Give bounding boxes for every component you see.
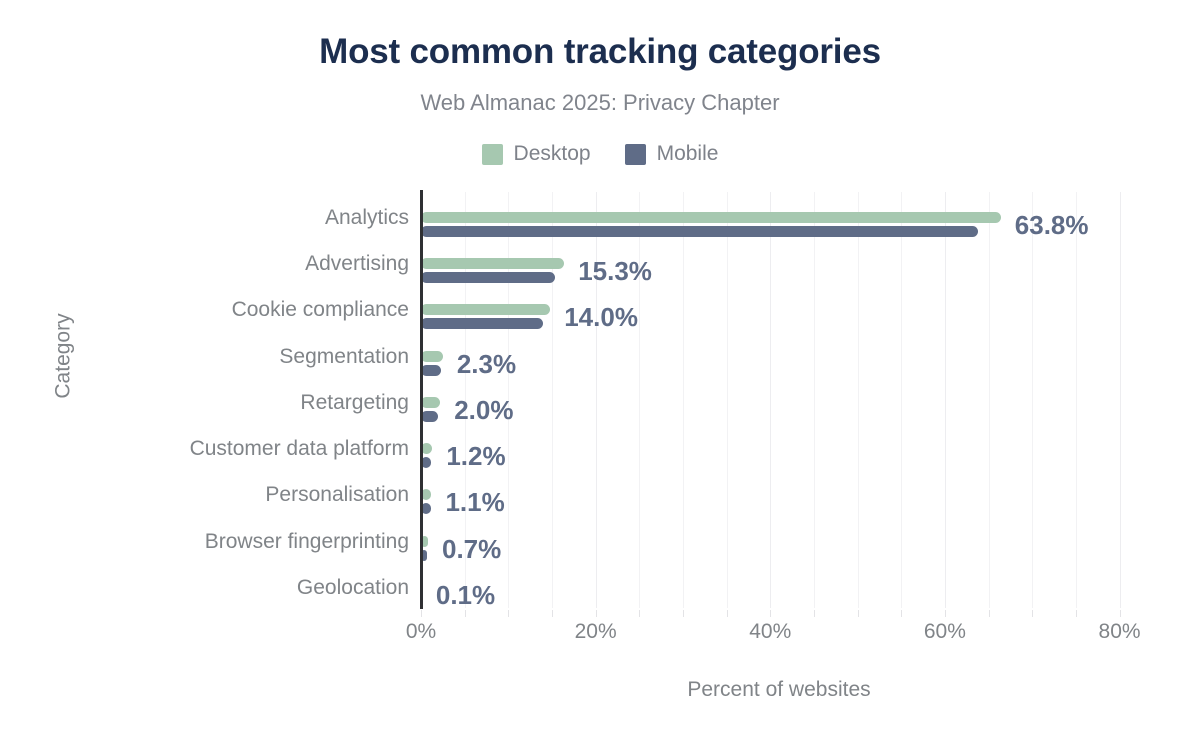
x-tick-mark [421, 610, 422, 617]
plot-area: 63.8%15.3%14.0%2.3%2.0%1.2%1.1%0.7%0.1% [421, 192, 1137, 608]
chart-subtitle: Web Almanac 2025: Privacy Chapter [0, 90, 1200, 116]
x-tick-label: 80% [1099, 620, 1141, 644]
x-tick-mark [727, 610, 728, 617]
x-tick-mark [770, 610, 771, 617]
bar-mobile[interactable] [421, 365, 441, 376]
x-tick-mark [639, 610, 640, 617]
bar-value-label: 1.2% [446, 443, 505, 469]
bar-group: 1.2% [421, 423, 1137, 468]
y-axis-title: Category [52, 313, 76, 398]
y-axis-label-analytics: Analytics [9, 205, 409, 231]
x-tick-mark [858, 610, 859, 617]
x-tick-mark [552, 610, 553, 617]
bar-group: 0.7% [421, 516, 1137, 561]
bar-group: 15.3% [421, 238, 1137, 283]
y-axis-label-customer-data-platform: Customer data platform [9, 436, 409, 462]
x-tick-mark [1076, 610, 1077, 617]
x-tick-mark [814, 610, 815, 617]
x-tick-mark [596, 610, 597, 617]
x-tick-label: 0% [406, 620, 436, 644]
legend-label: Mobile [657, 142, 719, 166]
bar-desktop[interactable] [421, 397, 440, 408]
legend-item-desktop[interactable]: Desktop [482, 142, 591, 166]
bar-desktop[interactable] [421, 304, 550, 315]
bar-desktop[interactable] [421, 258, 564, 269]
bar-value-label: 1.1% [445, 489, 504, 515]
y-axis-line [420, 190, 423, 609]
square-swatch-icon [482, 144, 503, 165]
bar-value-label: 2.0% [454, 397, 513, 423]
bar-desktop[interactable] [421, 351, 443, 362]
x-tick-mark [508, 610, 509, 617]
bar-value-label: 2.3% [457, 351, 516, 377]
bar-group: 1.1% [421, 469, 1137, 514]
x-tick-mark [901, 610, 902, 617]
bar-value-label: 0.1% [436, 582, 495, 608]
x-tick-label: 60% [924, 620, 966, 644]
y-axis-category-labels: AnalyticsAdvertisingCookie complianceSeg… [0, 192, 409, 608]
x-tick-mark [989, 610, 990, 617]
bar-mobile[interactable] [421, 272, 555, 283]
x-axis-ticks: 0%20%40%60%80% [421, 610, 1137, 650]
bar-chart: Most common tracking categories Web Alma… [0, 0, 1200, 742]
x-tick-mark [1032, 610, 1033, 617]
bar-group: 14.0% [421, 284, 1137, 329]
x-tick-label: 20% [575, 620, 617, 644]
y-axis-label-geolocation: Geolocation [9, 575, 409, 601]
x-tick-mark [683, 610, 684, 617]
bar-value-label: 14.0% [564, 304, 638, 330]
bar-mobile[interactable] [421, 411, 438, 422]
bar-group: 0.1% [421, 562, 1137, 607]
x-tick-label: 40% [749, 620, 791, 644]
bars-layer: 63.8%15.3%14.0%2.3%2.0%1.2%1.1%0.7%0.1% [421, 192, 1137, 608]
bar-group: 2.3% [421, 331, 1137, 376]
chart-title: Most common tracking categories [0, 32, 1200, 72]
x-tick-mark [1120, 610, 1121, 617]
bar-group: 63.8% [421, 192, 1137, 237]
bar-value-label: 15.3% [578, 258, 652, 284]
bar-mobile[interactable] [421, 226, 978, 237]
bar-group: 2.0% [421, 377, 1137, 422]
x-tick-mark [945, 610, 946, 617]
x-tick-mark [465, 610, 466, 617]
x-axis-title: Percent of websites [421, 678, 1137, 702]
chart-legend: DesktopMobile [0, 142, 1200, 166]
square-swatch-icon [625, 144, 646, 165]
y-axis-label-browser-fingerprinting: Browser fingerprinting [9, 529, 409, 555]
legend-label: Desktop [514, 142, 591, 166]
y-axis-label-personalisation: Personalisation [9, 482, 409, 508]
bar-desktop[interactable] [421, 212, 1001, 223]
y-axis-label-advertising: Advertising [9, 251, 409, 277]
legend-item-mobile[interactable]: Mobile [625, 142, 719, 166]
bar-mobile[interactable] [421, 318, 543, 329]
bar-value-label: 63.8% [1015, 212, 1089, 238]
bar-value-label: 0.7% [442, 536, 501, 562]
